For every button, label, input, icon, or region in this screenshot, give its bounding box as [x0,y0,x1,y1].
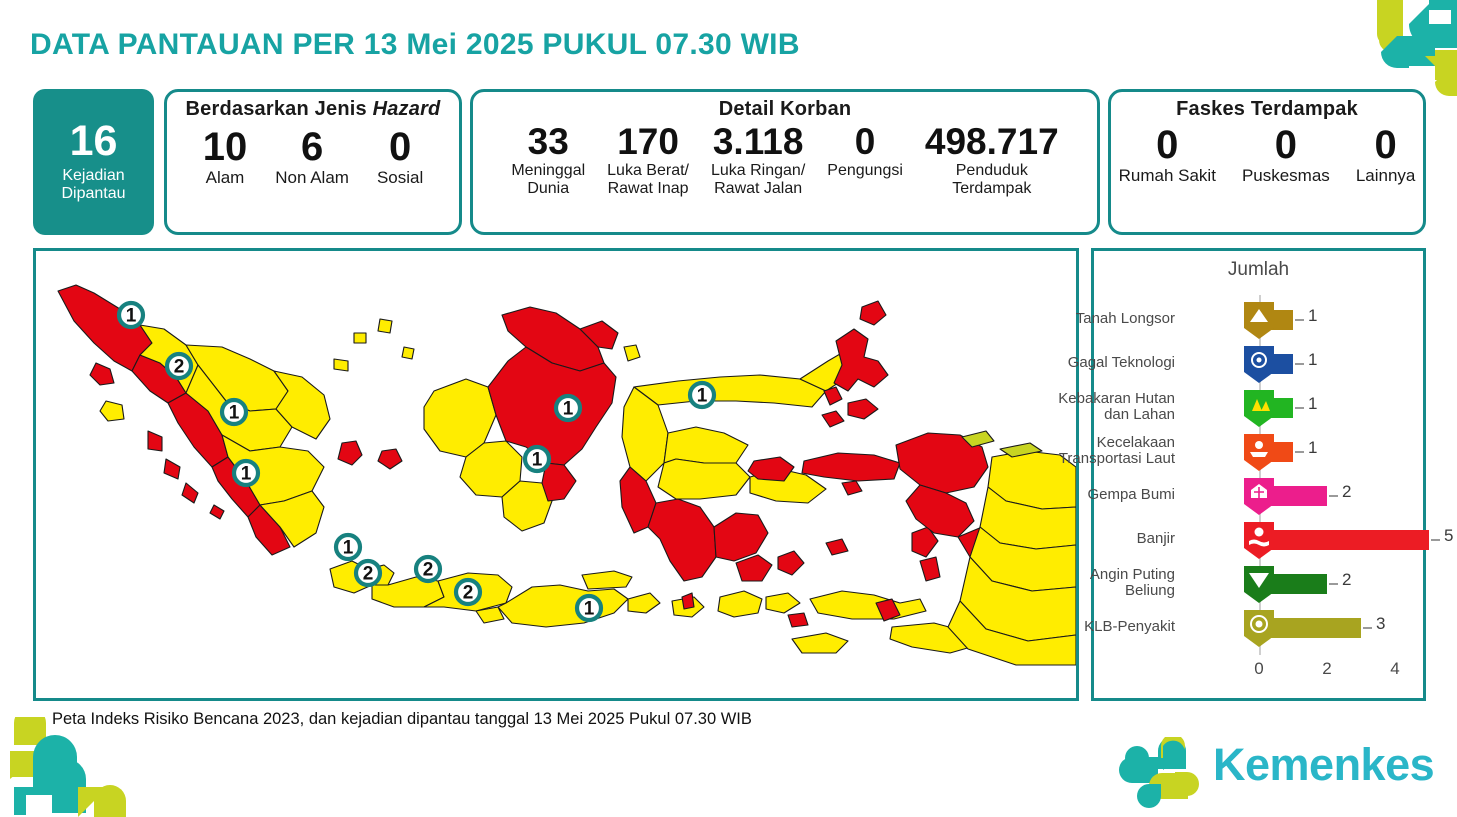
card-kejadian-dipantau: 16 Kejadian Dipantau [33,89,154,235]
island-riau-kep [354,333,366,343]
chart-category-label: Tanah Longsor [1015,297,1175,341]
region-sultra [714,513,768,561]
chart-value-connector [1329,495,1338,497]
chart-category-label: Kecelakaan Transportasi Laut [1015,429,1175,473]
stat-meninggal-value: 33 [528,123,569,160]
chart-row: KLB-Penyakit3 [1094,605,1423,651]
chart-x-axis-ticks: 02468 [1094,655,1423,689]
card-hazard-title: Berdasarkan Jenis Hazard [167,92,459,121]
region-ntb [718,591,762,617]
stat-meninggal-label: Meninggal Dunia [511,162,585,197]
region-halmahera [834,329,888,391]
region-sulsel [648,499,716,581]
chart-value-connector [1431,539,1440,541]
chart-value-label: 2 [1342,570,1351,590]
card-faskes-terdampak: Faskes Terdampak 0 Rumah Sakit 0 Puskesm… [1108,89,1426,235]
map-marker-label: 1 [584,599,595,620]
stat-meninggal-dunia: 33 Meninggal Dunia [505,123,591,197]
card-hazard-title-italic: Hazard [373,98,441,120]
chart-x-tick: 4 [1390,659,1399,679]
map-marker[interactable]: 1 [119,303,143,327]
chart-title: Jumlah [1094,259,1423,281]
stat-penduduk-label: Penduduk Terdampak [952,162,1031,197]
chart-value-connector [1329,583,1338,585]
region-aru [920,557,940,581]
korban-stats-row: 33 Meninggal Dunia 170 Luka Berat/ Rawat… [473,123,1097,197]
tornado-icon [1242,564,1276,604]
map-marker-label: 2 [423,560,434,581]
region-morotai [860,301,886,325]
island-mentawai-2 [164,459,180,479]
faskes-stats-row: 0 Rumah Sakit 0 Puskesmas 0 Lainnya [1111,125,1423,186]
chart-category-label: KLB-Penyakit [1015,605,1175,649]
region-ntt-flores [810,591,926,619]
stat-sosial-label: Sosial [377,169,423,188]
kemenkes-logo-text: Kemenkes [1213,739,1434,791]
card-detail-korban: Detail Korban 33 Meninggal Dunia 170 Luk… [470,89,1100,235]
java-madura [582,571,632,589]
chart-value-label: 3 [1376,614,1385,634]
chart-value-label: 1 [1308,438,1317,458]
decorative-shape-bottom-left [0,717,142,817]
stat-alam-value: 10 [203,127,248,167]
stat-puskesmas: 0 Puskesmas [1236,125,1336,186]
map-panel[interactable]: 121112221111 [33,248,1079,701]
map-marker-label: 1 [563,399,574,420]
map-marker[interactable]: 1 [690,383,714,407]
stat-sosial-value: 0 [389,127,411,167]
card-hazard-title-plain: Berdasarkan Jenis [186,98,373,120]
stat-penduduk-terdampak: 498.717 Penduduk Terdampak [919,123,1065,197]
map-marker[interactable]: 2 [416,557,440,581]
map-marker-label: 1 [126,306,137,327]
map-marker-label: 1 [343,538,354,559]
island-nias [90,363,114,385]
chart-bar [1259,530,1429,550]
chart-value-label: 2 [1342,482,1351,502]
stat-pengungsi-label: Pengungsi [827,162,903,180]
stat-luka-ringan-value: 3.118 [713,123,804,160]
map-marker[interactable]: 1 [222,400,246,424]
region-obi [848,399,878,419]
region-jatim [498,585,628,627]
chart-row: Gempa Bumi2 [1094,473,1423,519]
chart-value-label: 1 [1308,350,1317,370]
island-mentawai-3 [182,483,198,503]
chart-panel: Jumlah Tanah Longsor1Gagal Teknologi1Keb… [1091,248,1426,701]
card-korban-title: Detail Korban [473,92,1097,121]
map-marker-label: 2 [174,357,185,378]
map-marker[interactable]: 2 [356,561,380,585]
stat-lainnya-label: Lainnya [1356,167,1416,186]
stat-rumah-sakit-label: Rumah Sakit [1119,167,1216,186]
stat-penduduk-value: 498.717 [925,123,1059,160]
stat-luka-berat-label: Luka Berat/ Rawat Inap [607,162,689,197]
map-marker[interactable]: 1 [577,596,601,620]
sulawesi-central-y [658,459,750,499]
stat-pengungsi: 0 Pengungsi [821,123,909,180]
map-marker[interactable]: 1 [556,396,580,420]
chart-row: Gagal Teknologi1 [1094,341,1423,387]
map-marker-label: 2 [363,564,374,585]
landslide-icon [1242,300,1276,340]
chart-bars-area: Tanah Longsor1Gagal Teknologi1Kebakaran … [1094,295,1423,655]
map-marker[interactable]: 2 [456,580,480,604]
island-selayar [682,593,694,609]
java-east-tip [628,593,660,613]
chart-value-connector [1295,451,1304,453]
stat-luka-berat-value: 170 [617,123,679,160]
region-wetar [826,539,848,555]
chart-category-label: Gagal Teknologi [1015,341,1175,385]
stat-rumah-sakit: 0 Rumah Sakit [1113,125,1222,186]
region-maluku-sw [788,613,808,627]
map-marker-label: 1 [229,403,240,424]
forest-fire-icon [1242,388,1276,428]
stat-non-alam-label: Non Alam [275,169,349,188]
kalimantan-sm [624,345,640,361]
disease-outbreak-icon [1242,608,1276,648]
region-papua-barat-red2 [906,485,974,537]
indonesia-risk-map[interactable]: 121112221111 [36,251,1076,698]
kejadian-count: 16 [70,121,118,162]
kemenkes-logo: Kemenkes [1118,737,1448,809]
hazard-stats-row: 10 Alam 6 Non Alam 0 Sosial [167,127,459,188]
chart-row: Banjir5 [1094,517,1423,563]
chart-x-tick: 0 [1254,659,1263,679]
chart-value-connector [1295,363,1304,365]
island-enggano [210,505,224,519]
region-seram [802,453,900,481]
page-title: DATA PANTAUAN PER 13 Mei 2025 PUKUL 07.3… [30,28,800,62]
map-marker[interactable]: 2 [167,354,191,378]
chart-value-label: 1 [1308,394,1317,414]
chart-row: Angin Puting Beliung2 [1094,561,1423,607]
region-ntt-sumba [792,633,848,653]
stat-pengungsi-value: 0 [855,123,876,160]
chart-value-label: 1 [1308,306,1317,326]
kemenkes-logo-mark [1118,737,1208,809]
region-buton [778,551,804,575]
map-marker[interactable]: 1 [525,447,549,471]
chart-category-label: Angin Puting Beliung [1015,561,1175,605]
map-marker[interactable]: 1 [336,535,360,559]
chart-value-connector [1363,627,1372,629]
flood-icon [1242,520,1276,560]
stat-luka-ringan-label: Luka Ringan/ Rawat Jalan [711,162,805,197]
sea-transport-accident-icon [1242,432,1276,472]
region-ambon [842,481,862,495]
chart-row: Kebakaran Hutan dan Lahan1 [1094,385,1423,431]
kejadian-label: Kejadian Dipantau [33,167,154,203]
chart-row: Kecelakaan Transportasi Laut1 [1094,429,1423,475]
dashboard-root: DATA PANTAUAN PER 13 Mei 2025 PUKUL 07.3… [0,0,1457,817]
chart-x-tick: 2 [1322,659,1331,679]
stat-rumah-sakit-value: 0 [1156,125,1178,165]
stat-luka-ringan: 3.118 Luka Ringan/ Rawat Jalan [705,123,811,197]
island-mentawai-1 [148,431,162,451]
chart-category-label: Kebakaran Hutan dan Lahan [1015,385,1175,429]
region-gorontalo [634,375,826,407]
stat-alam-label: Alam [206,169,245,188]
map-marker-label: 1 [697,386,708,407]
island-anambas [402,347,414,359]
map-marker-label: 2 [463,583,474,604]
stat-lainnya-value: 0 [1374,125,1396,165]
region-ntb-2 [766,593,800,613]
technology-failure-icon [1242,344,1276,384]
stat-puskesmas-label: Puskesmas [1242,167,1330,186]
chart-value-connector [1295,407,1304,409]
region-ternate [824,387,842,405]
stat-puskesmas-value: 0 [1275,125,1297,165]
chart-category-label: Gempa Bumi [1015,473,1175,517]
card-faskes-title: Faskes Terdampak [1111,92,1423,121]
chart-row: Tanah Longsor1 [1094,297,1423,343]
earthquake-icon [1242,476,1276,516]
region-sula [822,411,844,427]
region-bangka [338,441,362,465]
stat-alam: 10 Alam [197,127,254,188]
card-jenis-hazard: Berdasarkan Jenis Hazard 10 Alam 6 Non A… [164,89,462,235]
map-marker-label: 1 [241,464,252,485]
region-sultra-2 [736,555,772,581]
stat-luka-berat: 170 Luka Berat/ Rawat Inap [601,123,695,197]
map-marker[interactable]: 1 [234,461,258,485]
island-batam [334,359,348,371]
stat-non-alam-value: 6 [301,127,323,167]
footer-note: Peta Indeks Risiko Bencana 2023, dan kej… [52,710,752,729]
island-simeulue [100,401,124,421]
map-marker-label: 1 [532,450,543,471]
chart-category-label: Banjir [1015,517,1175,561]
region-sulteng-2 [664,427,748,463]
stat-non-alam: 6 Non Alam [269,127,355,188]
stat-lainnya: 0 Lainnya [1350,125,1422,186]
stat-sosial: 0 Sosial [371,127,429,188]
island-natuna [378,319,392,333]
region-belitung [378,449,402,469]
chart-value-label: 5 [1444,526,1453,546]
chart-value-connector [1295,319,1304,321]
